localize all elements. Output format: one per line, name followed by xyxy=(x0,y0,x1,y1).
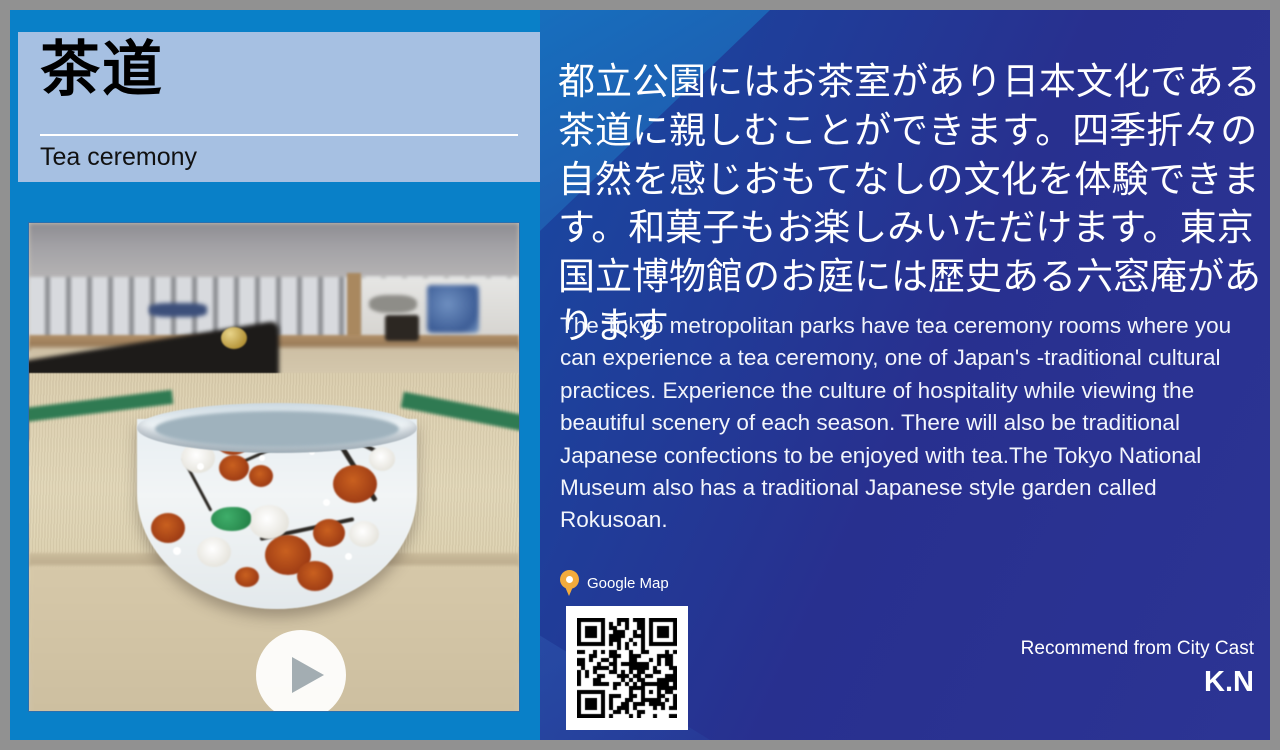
photo-back-tray xyxy=(149,303,207,317)
title-card: 茶道 Tea ceremony xyxy=(18,32,540,182)
photo-blue-vessel xyxy=(427,285,479,333)
photo-gray-bowl xyxy=(369,295,417,313)
title-divider xyxy=(40,134,518,136)
credit-line: Recommend from City Cast xyxy=(834,638,1254,660)
photo-ceiling xyxy=(29,223,519,283)
google-map-label: Google Map xyxy=(587,575,669,592)
page-title-japanese: 茶道 xyxy=(40,40,164,100)
right-content: 都立公園にはお茶室があり日本文化である茶道に親しむことができます。四季折々の自然… xyxy=(550,10,1270,740)
qr-code[interactable] xyxy=(566,606,688,730)
tea-bowl-interior xyxy=(155,411,399,447)
description-english: The Tokyo metropolitan parks have tea ce… xyxy=(560,310,1266,537)
credit-author: K.N xyxy=(834,666,1254,699)
google-map-link[interactable]: Google Map xyxy=(560,570,669,597)
play-triangle xyxy=(292,657,324,693)
map-pin-icon xyxy=(560,570,579,597)
page-title-english: Tea ceremony xyxy=(40,142,197,172)
photo-gold-ornament xyxy=(221,327,247,349)
photo-black-box xyxy=(385,315,419,341)
poster-card: 茶道 Tea ceremony xyxy=(10,10,1270,740)
qr-code-canvas xyxy=(577,618,677,718)
description-japanese: 都立公園にはお茶室があり日本文化である茶道に親しむことができます。四季折々の自然… xyxy=(558,58,1266,351)
left-column: 茶道 Tea ceremony xyxy=(10,10,540,740)
video-thumbnail[interactable] xyxy=(28,222,520,712)
play-icon[interactable] xyxy=(256,630,346,712)
